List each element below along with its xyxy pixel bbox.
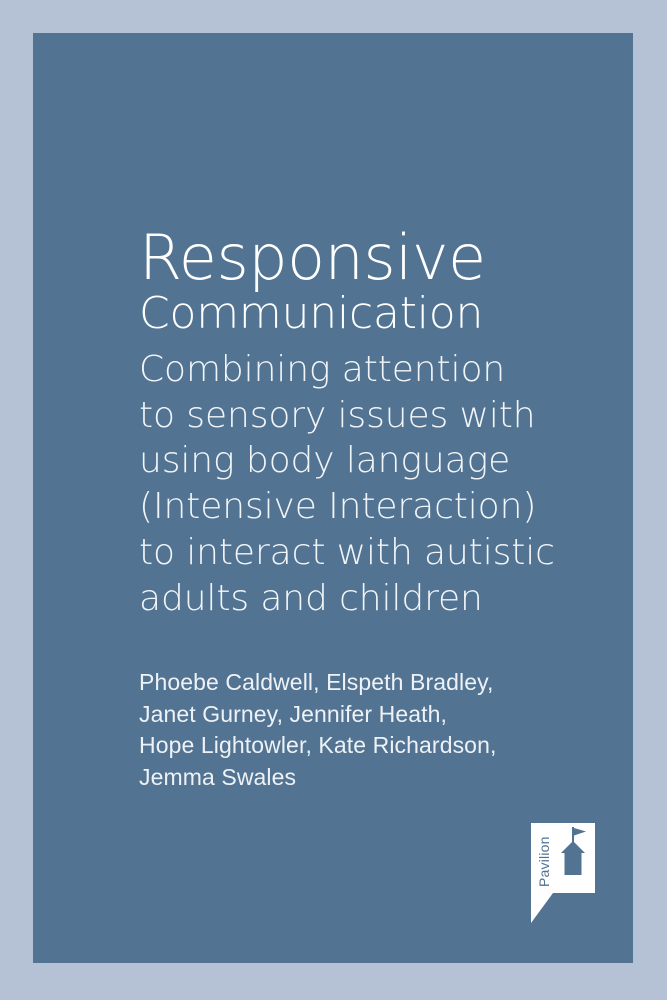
cover-text-block: Responsive Communication Combining atten… — [139, 228, 559, 793]
strapline-line: using body language — [139, 438, 559, 484]
page-title: Responsive — [139, 228, 559, 289]
book-cover: Responsive Communication Combining atten… — [0, 0, 667, 1000]
publisher-logo: Pavilion — [523, 823, 595, 923]
page-subtitle: Communication — [139, 291, 559, 337]
author-line: Jemma Swales — [139, 762, 559, 794]
publisher-name: Pavilion — [536, 836, 552, 887]
author-line: Hope Lightowler, Kate Richardson, — [139, 730, 559, 762]
strapline: Combining attention to sensory issues wi… — [139, 347, 559, 621]
author-list: Phoebe Caldwell, Elspeth Bradley, Janet … — [139, 667, 559, 793]
strapline-line: adults and children — [139, 576, 559, 622]
strapline-line: to sensory issues with — [139, 393, 559, 439]
author-line: Janet Gurney, Jennifer Heath, — [139, 699, 559, 731]
cover-panel: Responsive Communication Combining atten… — [33, 33, 633, 963]
strapline-line: to interact with autistic — [139, 530, 559, 576]
author-line: Phoebe Caldwell, Elspeth Bradley, — [139, 667, 559, 699]
strapline-line: (Intensive Interaction) — [139, 484, 559, 530]
pavilion-logo-icon: Pavilion — [523, 823, 595, 923]
flag-pole-icon — [572, 827, 574, 842]
strapline-line: Combining attention — [139, 347, 559, 393]
